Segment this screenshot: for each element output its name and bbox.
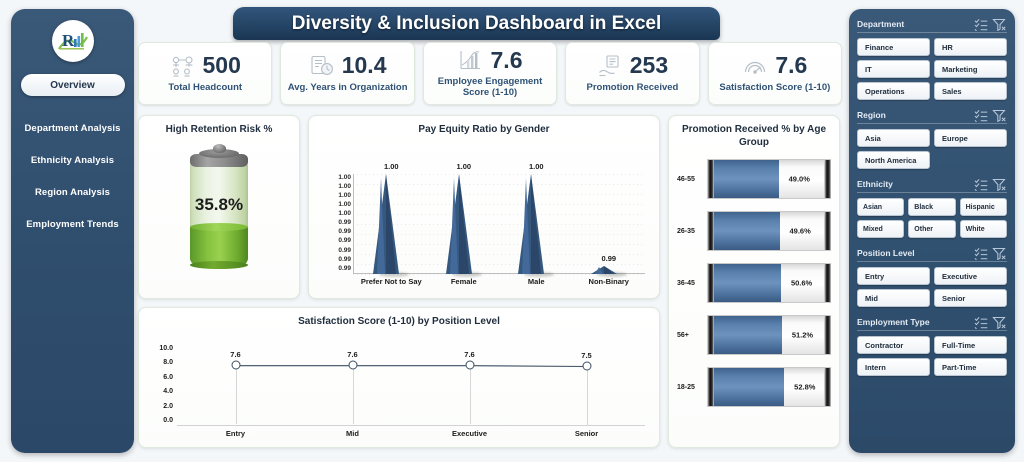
promotion-chart-title: Promotion Received % by Age Group — [669, 116, 839, 149]
cylinder-cap-left — [707, 316, 714, 354]
slicer-group-employment-type: Employment TypeContractorFull-TimeIntern… — [857, 314, 1007, 376]
kpi-value: 500 — [203, 54, 241, 77]
kpi-value: 7.6 — [775, 54, 807, 77]
cylinder-cap-right — [824, 212, 831, 250]
retention-risk-value: 35.8% — [182, 195, 256, 215]
sidebar-item-region-analysis[interactable]: Region Analysis — [15, 176, 131, 208]
promotion-bar-value: 49.6% — [789, 227, 810, 236]
slicer-option-asia[interactable]: Asia — [857, 129, 930, 147]
promotion-category-label: 36-45 — [677, 280, 707, 287]
satisfaction-data-label: 7.6 — [347, 350, 357, 359]
pay-equity-y-axis-line — [353, 174, 354, 274]
pay-equity-y-tick: 0.99 — [338, 257, 351, 264]
cone-side — [386, 174, 396, 274]
satisfaction-x-tick: Mid — [294, 429, 411, 438]
sidebar-item-overview[interactable]: Overview — [21, 74, 125, 96]
promotion-bar-row[interactable]: 26-3549.6% — [677, 205, 831, 257]
kpi-label: Avg. Years in Organization — [288, 83, 408, 94]
slicer-option-intern[interactable]: Intern — [857, 358, 930, 376]
slicer-panel: DepartmentFinanceHRITMarketingOperations… — [849, 9, 1015, 453]
pay-equity-y-axis: 1.001.001.001.001.000.990.990.990.990.99… — [319, 175, 351, 273]
slicer-option-mid[interactable]: Mid — [857, 289, 930, 307]
slicer-option-marketing[interactable]: Marketing — [934, 60, 1007, 78]
satisfaction-data-point[interactable] — [348, 361, 357, 370]
battery-nub-icon — [213, 144, 226, 153]
pay-equity-y-tick: 0.99 — [338, 220, 351, 227]
slicer-option-it[interactable]: IT — [857, 60, 930, 78]
promotion-bar-row[interactable]: 36-4550.6% — [677, 257, 831, 309]
satisfaction-line-path — [177, 347, 645, 425]
satisfaction-chart-title: Satisfaction Score (1-10) by Position Le… — [139, 308, 659, 329]
cone-highlight — [595, 267, 603, 274]
clear-filter-icon[interactable] — [992, 178, 1007, 191]
satisfaction-plot: 10.08.06.04.02.00.0 7.67.67.67.5 EntryMi… — [139, 329, 659, 441]
pay-equity-y-tick: 0.99 — [338, 238, 351, 245]
svg-text:R: R — [62, 31, 75, 50]
pay-equity-title: Pay Equity Ratio by Gender — [309, 116, 659, 137]
clear-filter-icon[interactable] — [992, 316, 1007, 329]
clipboard-clock-icon — [309, 54, 335, 78]
promotion-bar-track: 50.6% — [707, 263, 831, 303]
promotion-bar-value: 51.2% — [792, 331, 813, 340]
slicer-group-ethnicity: EthnicityAsianBlackHispanicMixedOtherWhi… — [857, 176, 1007, 238]
pay-equity-bar[interactable]: 1.00 — [500, 174, 573, 274]
sidebar-item-ethnicity-analysis[interactable]: Ethnicity Analysis — [15, 144, 131, 176]
slicer-header: Department — [857, 16, 1007, 33]
cone-side — [459, 174, 469, 274]
kpi-card-avg-years[interactable]: 10.4 Avg. Years in Organization — [280, 42, 414, 105]
cylinder-cap-right — [824, 316, 831, 354]
kpi-value: 10.4 — [342, 54, 387, 77]
satisfaction-y-axis: 10.08.06.04.02.00.0 — [147, 345, 173, 425]
pay-equity-y-tick: 0.99 — [338, 248, 351, 255]
sidebar-item-department-analysis[interactable]: Department Analysis — [15, 112, 131, 144]
slicer-header: Employment Type — [857, 314, 1007, 331]
page-title: Diversity & Inclusion Dashboard in Excel — [233, 7, 720, 40]
promotion-bar-value: 50.6% — [791, 279, 812, 288]
slicer-items: ContractorFull-TimeInternPart-Time — [857, 336, 1007, 376]
promotion-bar-fill — [707, 368, 784, 406]
promotion-bar-fill — [707, 212, 780, 250]
satisfaction-y-tick: 4.0 — [163, 388, 173, 395]
slicer-option-contractor[interactable]: Contractor — [857, 336, 930, 354]
promotion-bar-value: 52.8% — [794, 383, 815, 392]
satisfaction-x-axis-line — [177, 425, 645, 426]
slicer-items: AsianBlackHispanicMixedOtherWhite — [857, 198, 1007, 238]
satisfaction-y-tick: 10.0 — [159, 345, 173, 352]
cone-highlight — [450, 178, 458, 274]
promotion-bar-value: 49.0% — [789, 175, 810, 184]
satisfaction-data-point[interactable] — [231, 361, 240, 370]
satisfaction-series-area: 7.67.67.67.5 — [177, 347, 645, 425]
cone-highlight — [522, 178, 530, 274]
cylinder-cap-right — [824, 264, 831, 302]
promotion-bar-row[interactable]: 46-5549.0% — [677, 153, 831, 205]
satisfaction-y-tick: 8.0 — [163, 359, 173, 366]
kpi-card-engagement-score[interactable]: 7.6 Employee Engagement Score (1-10) — [423, 42, 557, 105]
sidebar-item-label: Overview — [50, 80, 94, 91]
cone-side — [531, 174, 541, 274]
multi-select-icon[interactable] — [974, 316, 989, 329]
cylinder-cap-left — [707, 212, 714, 250]
slicer-option-part-time[interactable]: Part-Time — [934, 358, 1007, 376]
satisfaction-data-label: 7.5 — [581, 351, 591, 360]
slicer-option-other[interactable]: Other — [908, 220, 955, 238]
satisfaction-data-point[interactable] — [582, 362, 591, 371]
promotion-bar-row[interactable]: 18-2552.8% — [677, 361, 831, 413]
cylinder-cap-left — [707, 264, 714, 302]
pay-equity-y-tick: 0.99 — [338, 229, 351, 236]
pay-equity-y-tick: 1.00 — [338, 175, 351, 182]
slicer-option-mixed[interactable]: Mixed — [857, 220, 904, 238]
pay-equity-chart-card: Pay Equity Ratio by Gender 1.001.001.001… — [308, 115, 660, 299]
sidebar-item-label: Ethnicity Analysis — [31, 155, 114, 166]
slicer-option-hispanic[interactable]: Hispanic — [960, 198, 1007, 216]
pay-equity-bar-label: 1.00 — [384, 162, 399, 171]
slicer-title: Employment Type — [857, 317, 971, 327]
slicer-option-operations[interactable]: Operations — [857, 82, 930, 100]
slicer-option-hr[interactable]: HR — [934, 38, 1007, 56]
cylinder-cap-right — [824, 160, 831, 198]
promotion-chart-card: Promotion Received % by Age Group 46-554… — [668, 115, 840, 448]
slicer-items: EntryExecutiveMidSenior — [857, 267, 1007, 307]
pay-equity-y-tick: 1.00 — [338, 193, 351, 200]
promotion-category-label: 18-25 — [677, 384, 707, 391]
multi-select-icon[interactable] — [974, 109, 989, 122]
satisfaction-data-label: 7.6 — [464, 350, 474, 359]
satisfaction-x-tick: Senior — [528, 429, 645, 438]
satisfaction-droplne — [353, 365, 354, 424]
satisfaction-y-tick: 0.0 — [163, 417, 173, 424]
clear-filter-icon[interactable] — [992, 109, 1007, 122]
kpi-card-total-headcount[interactable]: 500 Total Headcount — [138, 42, 272, 105]
cylinder-cap-left — [707, 368, 714, 406]
cylinder-cap-right — [824, 368, 831, 406]
org-chart-icon — [170, 54, 196, 78]
satisfaction-data-label: 7.6 — [230, 350, 240, 359]
slicer-option-sales[interactable]: Sales — [934, 82, 1007, 100]
promotion-bar-fill — [707, 264, 781, 302]
multi-select-icon[interactable] — [974, 178, 989, 191]
satisfaction-x-labels: EntryMidExecutiveSenior — [177, 429, 645, 438]
promotion-bar-fill — [707, 160, 779, 198]
battery-base — [190, 261, 248, 269]
satisfaction-y-tick: 6.0 — [163, 374, 173, 381]
pay-equity-bars: 1.001.001.000.99 — [355, 174, 645, 274]
bar-chart-icon — [458, 48, 484, 72]
slicer-header: Ethnicity — [857, 176, 1007, 193]
cylinder-cap-left — [707, 160, 714, 198]
slicer-group-position-level: Position LevelEntryExecutiveMidSenior — [857, 245, 1007, 307]
pay-equity-bar[interactable]: 0.99 — [573, 174, 646, 274]
retention-risk-title: High Retention Risk % — [139, 116, 299, 137]
clear-filter-icon[interactable] — [992, 247, 1007, 260]
cone-side — [604, 266, 614, 274]
retention-battery-gauge: 35.8% — [182, 149, 256, 269]
slicer-option-executive[interactable]: Executive — [934, 267, 1007, 285]
pay-equity-x-tick: Female — [428, 277, 501, 286]
satisfaction-x-tick: Entry — [177, 429, 294, 438]
hand-award-icon — [597, 54, 623, 78]
kpi-card-promotion-received[interactable]: 253 Promotion Received — [565, 42, 699, 105]
cone-highlight — [377, 178, 385, 274]
slicer-option-black[interactable]: Black — [908, 198, 955, 216]
promotion-bar-track: 52.8% — [707, 367, 831, 407]
slicer-option-full-time[interactable]: Full-Time — [934, 336, 1007, 354]
pay-equity-y-tick: 1.00 — [338, 211, 351, 218]
pay-equity-bar-label: 1.00 — [456, 162, 471, 171]
pay-equity-bar[interactable]: 1.00 — [355, 174, 428, 274]
sidebar-item-label: Department Analysis — [24, 123, 120, 134]
promotion-bar-track: 51.2% — [707, 315, 831, 355]
slicer-items: AsiaEuropeNorth America — [857, 129, 1007, 169]
kpi-label: Employee Engagement Score (1-10) — [426, 77, 554, 99]
pay-equity-y-tick: 1.00 — [338, 184, 351, 191]
pay-equity-x-tick: Prefer Not to Say — [355, 277, 428, 286]
sidebar-item-label: Employment Trends — [26, 219, 119, 230]
kpi-label: Satisfaction Score (1-10) — [719, 83, 830, 94]
slicer-items: FinanceHRITMarketingOperationsSales — [857, 38, 1007, 100]
slicer-title: Department — [857, 19, 971, 29]
slicer-option-white[interactable]: White — [960, 220, 1007, 238]
slicer-group-department: DepartmentFinanceHRITMarketingOperations… — [857, 16, 1007, 100]
pay-equity-x-tick: Non-Binary — [573, 277, 646, 286]
promotion-bar-row[interactable]: 56+51.2% — [677, 309, 831, 361]
kpi-card-row: 500 Total Headcount 10.4 Avg. Years in O… — [138, 42, 842, 105]
slicer-header: Region — [857, 107, 1007, 124]
pay-equity-bar-label: 1.00 — [529, 162, 544, 171]
battery-fill — [190, 227, 248, 264]
satisfaction-droplne — [236, 365, 237, 424]
clear-filter-icon[interactable] — [992, 18, 1007, 31]
page-title-text: Diversity & Inclusion Dashboard in Excel — [292, 13, 662, 35]
slicer-option-senior[interactable]: Senior — [934, 289, 1007, 307]
pay-equity-x-labels: Prefer Not to SayFemaleMaleNon-Binary — [355, 277, 645, 286]
slicer-option-europe[interactable]: Europe — [934, 129, 1007, 147]
sidebar-item-employment-trends[interactable]: Employment Trends — [15, 208, 131, 240]
promotion-bar-track: 49.6% — [707, 211, 831, 251]
pay-equity-y-tick: 0.99 — [338, 266, 351, 273]
slicer-title: Region — [857, 110, 971, 120]
pay-equity-bar[interactable]: 1.00 — [428, 174, 501, 274]
satisfaction-chart-card: Satisfaction Score (1-10) by Position Le… — [138, 307, 660, 448]
slicer-option-entry[interactable]: Entry — [857, 267, 930, 285]
kpi-label: Promotion Received — [586, 83, 678, 94]
satisfaction-data-point[interactable] — [465, 361, 474, 370]
satisfaction-y-tick: 2.0 — [163, 403, 173, 410]
pay-equity-y-tick: 1.00 — [338, 202, 351, 209]
promotion-bar-fill — [707, 316, 782, 354]
satisfaction-droplne — [470, 365, 471, 424]
sidebar: R Overview Department Analysis Ethnicity… — [11, 9, 134, 453]
slicer-header: Position Level — [857, 245, 1007, 262]
pay-equity-plot: 1.001.001.001.001.000.990.990.990.990.99… — [309, 141, 659, 291]
dashboard-root: R Overview Department Analysis Ethnicity… — [0, 0, 1024, 462]
satisfaction-x-tick: Executive — [411, 429, 528, 438]
promotion-bar-track: 49.0% — [707, 159, 831, 199]
speedometer-icon — [742, 54, 768, 78]
pay-equity-bar-label: 0.99 — [601, 254, 616, 263]
kpi-value: 7.6 — [491, 49, 523, 72]
kpi-card-satisfaction-score[interactable]: 7.6 Satisfaction Score (1-10) — [708, 42, 842, 105]
promotion-bar-list: 46-5549.0%26-3549.6%36-4550.6%56+51.2%18… — [669, 149, 839, 413]
retention-risk-card: High Retention Risk % 35.8% — [138, 115, 300, 299]
slicer-group-region: RegionAsiaEuropeNorth America — [857, 107, 1007, 169]
promotion-category-label: 46-55 — [677, 176, 707, 183]
satisfaction-droplne — [587, 366, 588, 425]
promotion-category-label: 56+ — [677, 332, 707, 339]
slicer-title: Position Level — [857, 248, 971, 258]
kpi-label: Total Headcount — [168, 83, 242, 94]
company-logo: R — [52, 20, 94, 62]
slicer-option-asian[interactable]: Asian — [857, 198, 904, 216]
kpi-value: 253 — [630, 54, 668, 77]
promotion-category-label: 26-35 — [677, 228, 707, 235]
pay-equity-x-tick: Male — [500, 277, 573, 286]
multi-select-icon[interactable] — [974, 247, 989, 260]
multi-select-icon[interactable] — [974, 18, 989, 31]
slicer-option-finance[interactable]: Finance — [857, 38, 930, 56]
sidebar-item-label: Region Analysis — [35, 187, 110, 198]
slicer-title: Ethnicity — [857, 179, 971, 189]
slicer-option-north-america[interactable]: North America — [857, 151, 930, 169]
